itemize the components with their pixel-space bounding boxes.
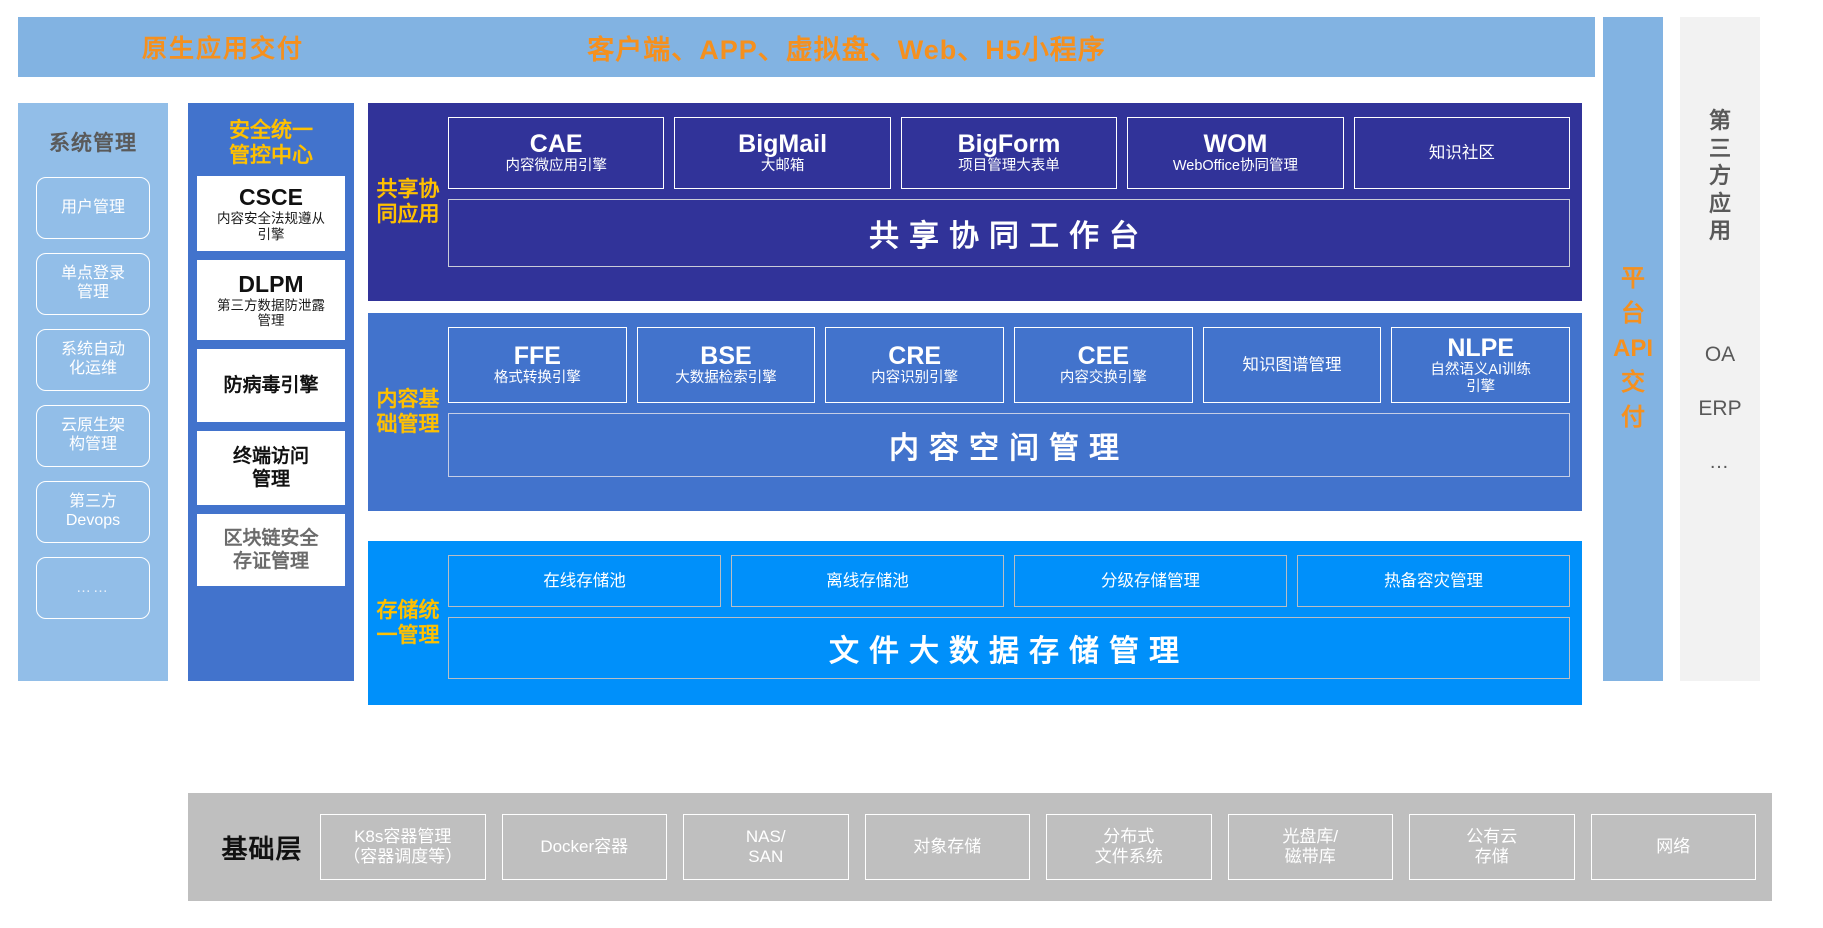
- client-channels-label: 客户端、APP、虚拟盘、Web、H5小程序: [428, 28, 1595, 67]
- bigform-desc: 项目管理大表单: [958, 158, 1060, 175]
- infra-item-object-storage[interactable]: 对象存储: [865, 814, 1031, 880]
- security-item-dlpm[interactable]: DLPM 第三方数据防泄露管理: [197, 260, 345, 340]
- cre-desc: 内容识别引擎: [871, 370, 958, 387]
- cre-code: CRE: [888, 343, 941, 371]
- architecture-diagram: 原生应用交付 客户端、APP、虚拟盘、Web、H5小程序 系统管理 用户管理 单…: [0, 0, 1823, 928]
- platform-stack: 共享协同应用 CAE 内容微应用引擎 BigMail 大邮箱 BigForm 项…: [368, 103, 1582, 719]
- chip-knowledge-community[interactable]: 知识社区: [1354, 117, 1570, 189]
- platform-api-delivery-label: 平台API交付: [1613, 262, 1653, 436]
- third-party-item-more: …: [1709, 451, 1731, 474]
- bse-desc: 大数据检索引擎: [675, 370, 777, 387]
- content-base-chip-row: FFE 格式转换引擎 BSE 大数据检索引擎 CRE 内容识别引擎 CEE 内容…: [448, 327, 1570, 403]
- native-app-delivery-banner: 原生应用交付 客户端、APP、虚拟盘、Web、H5小程序: [18, 17, 1595, 77]
- chip-ffe[interactable]: FFE 格式转换引擎: [448, 327, 627, 403]
- band-shared-collaboration: 共享协同应用 CAE 内容微应用引擎 BigMail 大邮箱 BigForm 项…: [368, 103, 1582, 301]
- ffe-code: FFE: [514, 343, 561, 371]
- nlpe-desc: 自然语义AI训练引擎: [1430, 362, 1531, 395]
- sys-item-cloud-native-architecture[interactable]: 云原生架构管理: [36, 405, 150, 467]
- security-item-antivirus-engine[interactable]: 防病毒引擎: [197, 349, 345, 422]
- security-item-terminal-access-management[interactable]: 终端访问管理: [197, 431, 345, 505]
- third-party-item-erp: ERP: [1698, 397, 1741, 421]
- band-storage-label: 存储统一管理: [368, 555, 448, 691]
- chip-nlpe[interactable]: NLPE 自然语义AI训练引擎: [1391, 327, 1570, 403]
- tiered-storage-label: 分级存储管理: [1101, 572, 1200, 591]
- bigform-code: BigForm: [958, 131, 1061, 159]
- storage-band-wrapper: 存储统一管理 在线存储池 离线存储池 分级存储管理 热备容灾管理: [368, 523, 1582, 719]
- third-party-application-column: 第三方应用 OA ERP …: [1680, 17, 1760, 681]
- sys-item-more[interactable]: ……: [36, 557, 150, 619]
- security-control-center-title: 安全统一管控中心: [229, 103, 313, 176]
- ffe-desc: 格式转换引擎: [494, 370, 581, 387]
- hot-standby-label: 热备容灾管理: [1384, 572, 1483, 591]
- sys-item-automated-ops[interactable]: 系统自动化运维: [36, 329, 150, 391]
- sys-item-user-management[interactable]: 用户管理: [36, 177, 150, 239]
- bigmail-desc: 大邮箱: [761, 158, 805, 175]
- security-item-blockchain-evidence-management[interactable]: 区块链安全存证管理: [197, 514, 345, 586]
- csce-code: CSCE: [239, 185, 303, 211]
- online-storage-pool-label: 在线存储池: [543, 572, 626, 591]
- chip-bigmail[interactable]: BigMail 大邮箱: [674, 117, 890, 189]
- knowledge-community-label: 知识社区: [1429, 144, 1495, 163]
- infrastructure-layer-title: 基础层: [204, 829, 320, 866]
- chip-cre[interactable]: CRE 内容识别引擎: [825, 327, 1004, 403]
- security-item-csce[interactable]: CSCE 内容安全法规遵从引擎: [197, 176, 345, 251]
- infrastructure-layer: 基础层 K8s容器管理（容器调度等） Docker容器 NAS/SAN 对象存储…: [188, 793, 1772, 901]
- shared-collaboration-chip-row: CAE 内容微应用引擎 BigMail 大邮箱 BigForm 项目管理大表单 …: [448, 117, 1570, 189]
- infra-item-network[interactable]: 网络: [1591, 814, 1757, 880]
- chip-offline-storage-pool[interactable]: 离线存储池: [731, 555, 1004, 607]
- band-shared-collaboration-label: 共享协同应用: [368, 117, 448, 287]
- infra-item-nas-san[interactable]: NAS/SAN: [683, 814, 849, 880]
- infra-item-docker-container[interactable]: Docker容器: [502, 814, 668, 880]
- cae-code: CAE: [530, 131, 583, 159]
- cee-code: CEE: [1078, 343, 1129, 371]
- dlpm-code: DLPM: [238, 272, 303, 298]
- infrastructure-chip-row: K8s容器管理（容器调度等） Docker容器 NAS/SAN 对象存储 分布式…: [320, 814, 1756, 880]
- infra-item-optical-tape-library[interactable]: 光盘库/磁带库: [1228, 814, 1394, 880]
- security-control-center-column: 安全统一管控中心 CSCE 内容安全法规遵从引擎 DLPM 第三方数据防泄露管理…: [188, 103, 354, 681]
- system-management-column: 系统管理 用户管理 单点登录管理 系统自动化运维 云原生架构管理 第三方Devo…: [18, 103, 168, 681]
- native-app-delivery-label: 原生应用交付: [18, 29, 428, 65]
- chip-cae[interactable]: CAE 内容微应用引擎: [448, 117, 664, 189]
- infra-item-k8s-container-management[interactable]: K8s容器管理（容器调度等）: [320, 814, 486, 880]
- wom-code: WOM: [1203, 131, 1267, 159]
- chip-bigform[interactable]: BigForm 项目管理大表单: [901, 117, 1117, 189]
- sys-item-third-party-devops[interactable]: 第三方Devops: [36, 481, 150, 543]
- sys-item-sso-management[interactable]: 单点登录管理: [36, 253, 150, 315]
- chip-hot-standby-dr-management[interactable]: 热备容灾管理: [1297, 555, 1570, 607]
- chip-knowledge-graph-management[interactable]: 知识图谱管理: [1203, 327, 1382, 403]
- nlpe-code: NLPE: [1447, 335, 1514, 363]
- infra-item-distributed-file-system[interactable]: 分布式文件系统: [1046, 814, 1212, 880]
- dlpm-desc: 第三方数据防泄露管理: [217, 298, 325, 329]
- chip-bse[interactable]: BSE 大数据检索引擎: [637, 327, 816, 403]
- shared-collaboration-workbench-bar[interactable]: 共享协同工作台: [448, 199, 1570, 267]
- bigmail-code: BigMail: [738, 131, 827, 159]
- chip-tiered-storage-management[interactable]: 分级存储管理: [1014, 555, 1287, 607]
- chip-online-storage-pool[interactable]: 在线存储池: [448, 555, 721, 607]
- platform-api-delivery-column: 平台API交付: [1603, 17, 1663, 681]
- knowledge-graph-label: 知识图谱管理: [1243, 356, 1342, 375]
- third-party-application-title: 第三方应用: [1707, 107, 1733, 245]
- band-content-base-management-label: 内容基础管理: [368, 327, 448, 497]
- system-management-title: 系统管理: [49, 127, 137, 157]
- bse-code: BSE: [700, 343, 751, 371]
- band-content-base-management: 内容基础管理 FFE 格式转换引擎 BSE 大数据检索引擎 CRE 内容识别引擎: [368, 313, 1582, 511]
- cee-desc: 内容交换引擎: [1060, 370, 1147, 387]
- third-party-item-oa: OA: [1705, 343, 1735, 367]
- chip-cee[interactable]: CEE 内容交换引擎: [1014, 327, 1193, 403]
- content-space-management-bar[interactable]: 内容空间管理: [448, 413, 1570, 477]
- csce-desc: 内容安全法规遵从引擎: [217, 211, 325, 242]
- file-bigdata-storage-management-bar[interactable]: 文件大数据存储管理: [448, 617, 1570, 679]
- wom-desc: WebOffice协同管理: [1173, 158, 1298, 175]
- chip-wom[interactable]: WOM WebOffice协同管理: [1127, 117, 1343, 189]
- storage-chip-row: 在线存储池 离线存储池 分级存储管理 热备容灾管理: [448, 555, 1570, 607]
- cae-desc: 内容微应用引擎: [505, 158, 607, 175]
- offline-storage-pool-label: 离线存储池: [826, 572, 909, 591]
- infra-item-public-cloud-storage[interactable]: 公有云存储: [1409, 814, 1575, 880]
- band-storage-unified-management: 存储统一管理 在线存储池 离线存储池 分级存储管理 热备容灾管理: [368, 541, 1582, 705]
